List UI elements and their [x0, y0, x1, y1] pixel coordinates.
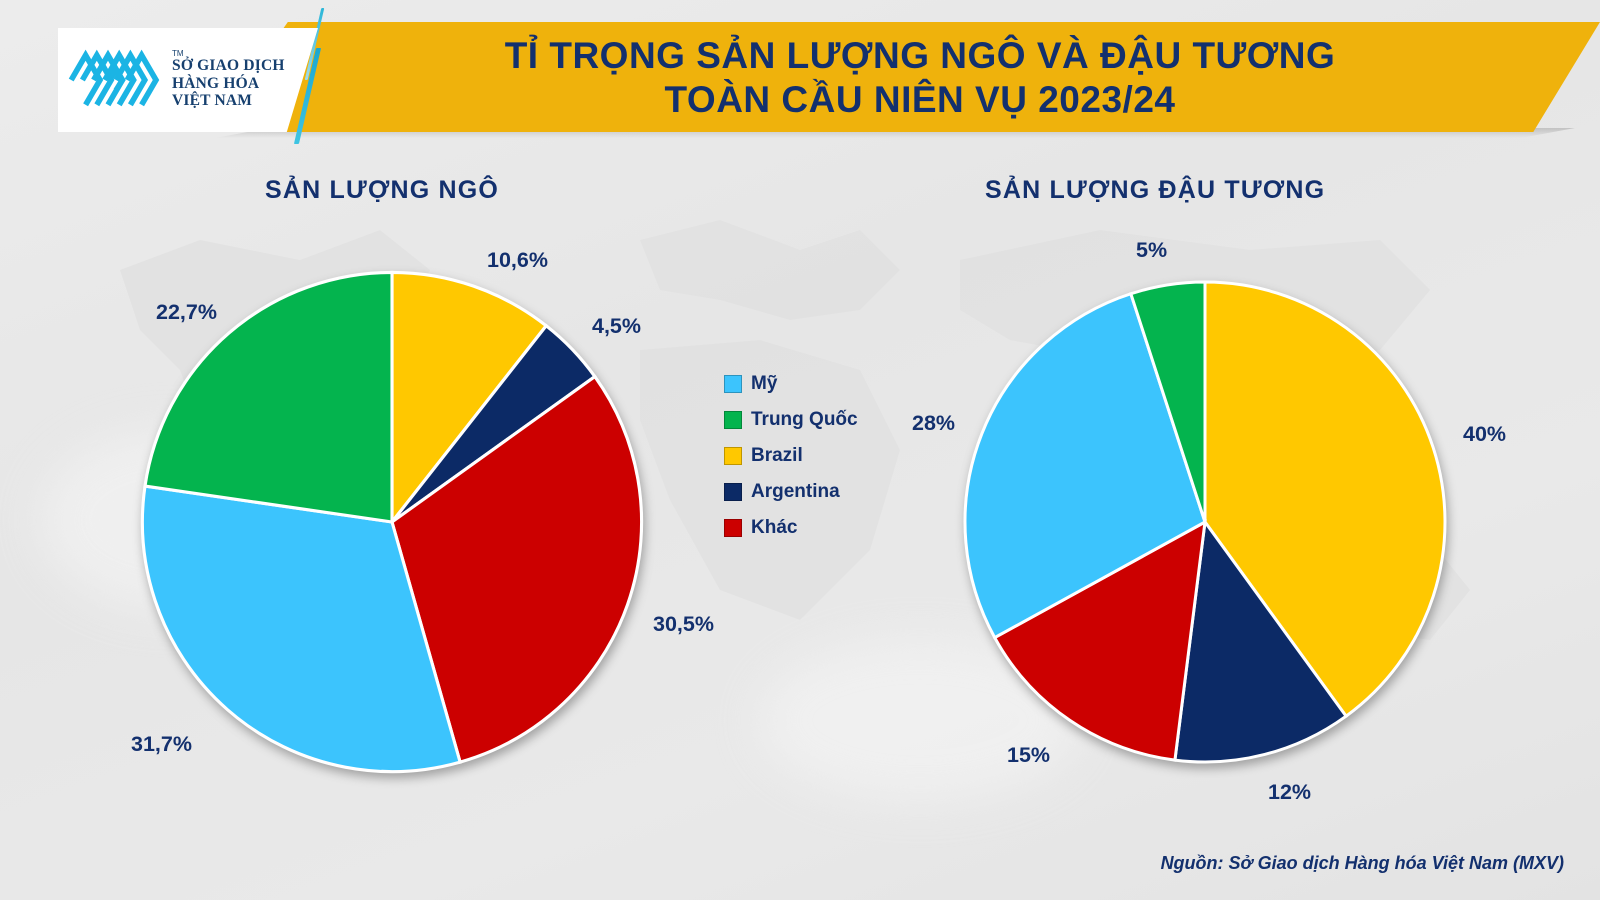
- legend: Mỹ Trung Quốc Brazil Argentina Khác: [724, 366, 858, 546]
- chart-title-soybean: SẢN LƯỢNG ĐẬU TƯƠNG: [985, 176, 1325, 205]
- pct-label-soy-brazil: 40%: [1463, 422, 1506, 447]
- legend-swatch-icon: [724, 375, 742, 393]
- legend-swatch-icon: [724, 411, 742, 429]
- legend-swatch-icon: [724, 519, 742, 537]
- pct-label-soy-trungquoc: 5%: [1136, 238, 1167, 263]
- pie-chart-corn: [132, 262, 652, 782]
- pct-label-corn-trungquoc: 22,7%: [156, 300, 217, 325]
- pct-label-corn-khac: 30,5%: [653, 612, 714, 637]
- title-line-1: TỈ TRỌNG SẢN LƯỢNG NGÔ VÀ ĐẬU TƯƠNG: [505, 34, 1336, 78]
- legend-label: Argentina: [751, 481, 840, 503]
- chart-title-corn: SẢN LƯỢNG NGÔ: [265, 176, 499, 205]
- pct-label-corn-argentina: 4,5%: [592, 314, 641, 339]
- pct-label-soy-khac: 15%: [1007, 743, 1050, 768]
- infographic-canvas: TỈ TRỌNG SẢN LƯỢNG NGÔ VÀ ĐẬU TƯƠNG TOÀN…: [0, 0, 1600, 900]
- legend-label: Brazil: [751, 445, 803, 467]
- legend-item-trung-quoc[interactable]: Trung Quốc: [724, 402, 858, 438]
- legend-item-khac[interactable]: Khác: [724, 510, 858, 546]
- title-line-2: TOÀN CẦU NIÊN VỤ 2023/24: [665, 78, 1176, 122]
- legend-label: Mỹ: [751, 373, 777, 395]
- logo-line-1: SỞ GIAO DỊCH: [172, 57, 285, 74]
- legend-label: Khác: [751, 517, 797, 539]
- pie-corn-svg: [132, 262, 652, 782]
- legend-item-argentina[interactable]: Argentina: [724, 474, 858, 510]
- logo-text: TM SỞ GIAO DỊCH HÀNG HÓA VIỆT NAM: [172, 50, 285, 109]
- page-title: TỈ TRỌNG SẢN LƯỢNG NGÔ VÀ ĐẬU TƯƠNG TOÀN…: [330, 28, 1510, 128]
- legend-item-my[interactable]: Mỹ: [724, 366, 858, 402]
- legend-swatch-icon: [724, 483, 742, 501]
- logo-line-2: HÀNG HÓA: [172, 75, 285, 92]
- logo-line-3: VIỆT NAM: [172, 92, 285, 109]
- pct-label-soy-argentina: 12%: [1268, 780, 1311, 805]
- header: TỈ TRỌNG SẢN LƯỢNG NGÔ VÀ ĐẬU TƯƠNG TOÀN…: [0, 0, 1600, 150]
- pct-label-soy-my: 28%: [912, 411, 955, 436]
- legend-label: Trung Quốc: [751, 409, 858, 431]
- pct-label-corn-my: 31,7%: [131, 732, 192, 757]
- pie-corn-slices: [142, 272, 641, 771]
- legend-item-brazil[interactable]: Brazil: [724, 438, 858, 474]
- pie-soybean-slices: [965, 282, 1445, 762]
- pct-label-corn-brazil: 10,6%: [487, 248, 548, 273]
- pie-soybean-svg: [955, 272, 1455, 772]
- mxv-logo-icon: [68, 47, 164, 113]
- source-note: Nguồn: Sở Giao dịch Hàng hóa Việt Nam (M…: [1161, 853, 1564, 874]
- logo-card: TM SỞ GIAO DỊCH HÀNG HÓA VIỆT NAM: [58, 28, 318, 132]
- pie-chart-soybean: [955, 272, 1455, 772]
- legend-swatch-icon: [724, 447, 742, 465]
